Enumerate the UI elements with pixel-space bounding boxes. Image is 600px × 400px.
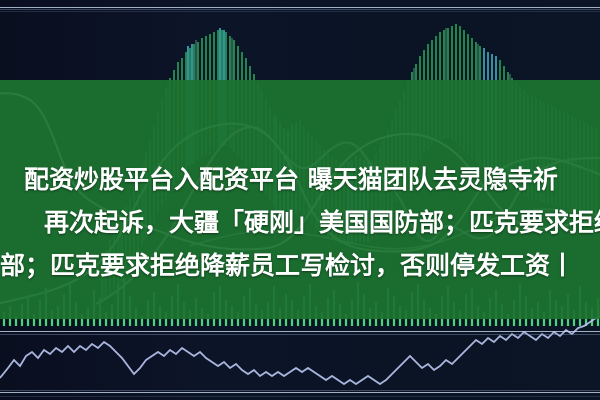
headline-line-3: 部；匹克要求拒绝降薪员工写检讨，否则停发工资丨 xyxy=(0,244,600,287)
headline-line-1: 配资炒股平台入配资平台 曝天猫团队去灵隐寺祈 xyxy=(0,158,600,201)
headline-line-2: 再次起诉，大疆「硬刚」美国国防部；匹克要求拒绝 xyxy=(0,201,600,244)
screenshot-root: 配资炒股平台入配资平台 曝天猫团队去灵隐寺祈 再次起诉，大疆「硬刚」美国国防部；… xyxy=(0,0,600,400)
headline-block: 配资炒股平台入配资平台 曝天猫团队去灵隐寺祈 再次起诉，大疆「硬刚」美国国防部；… xyxy=(0,158,600,287)
